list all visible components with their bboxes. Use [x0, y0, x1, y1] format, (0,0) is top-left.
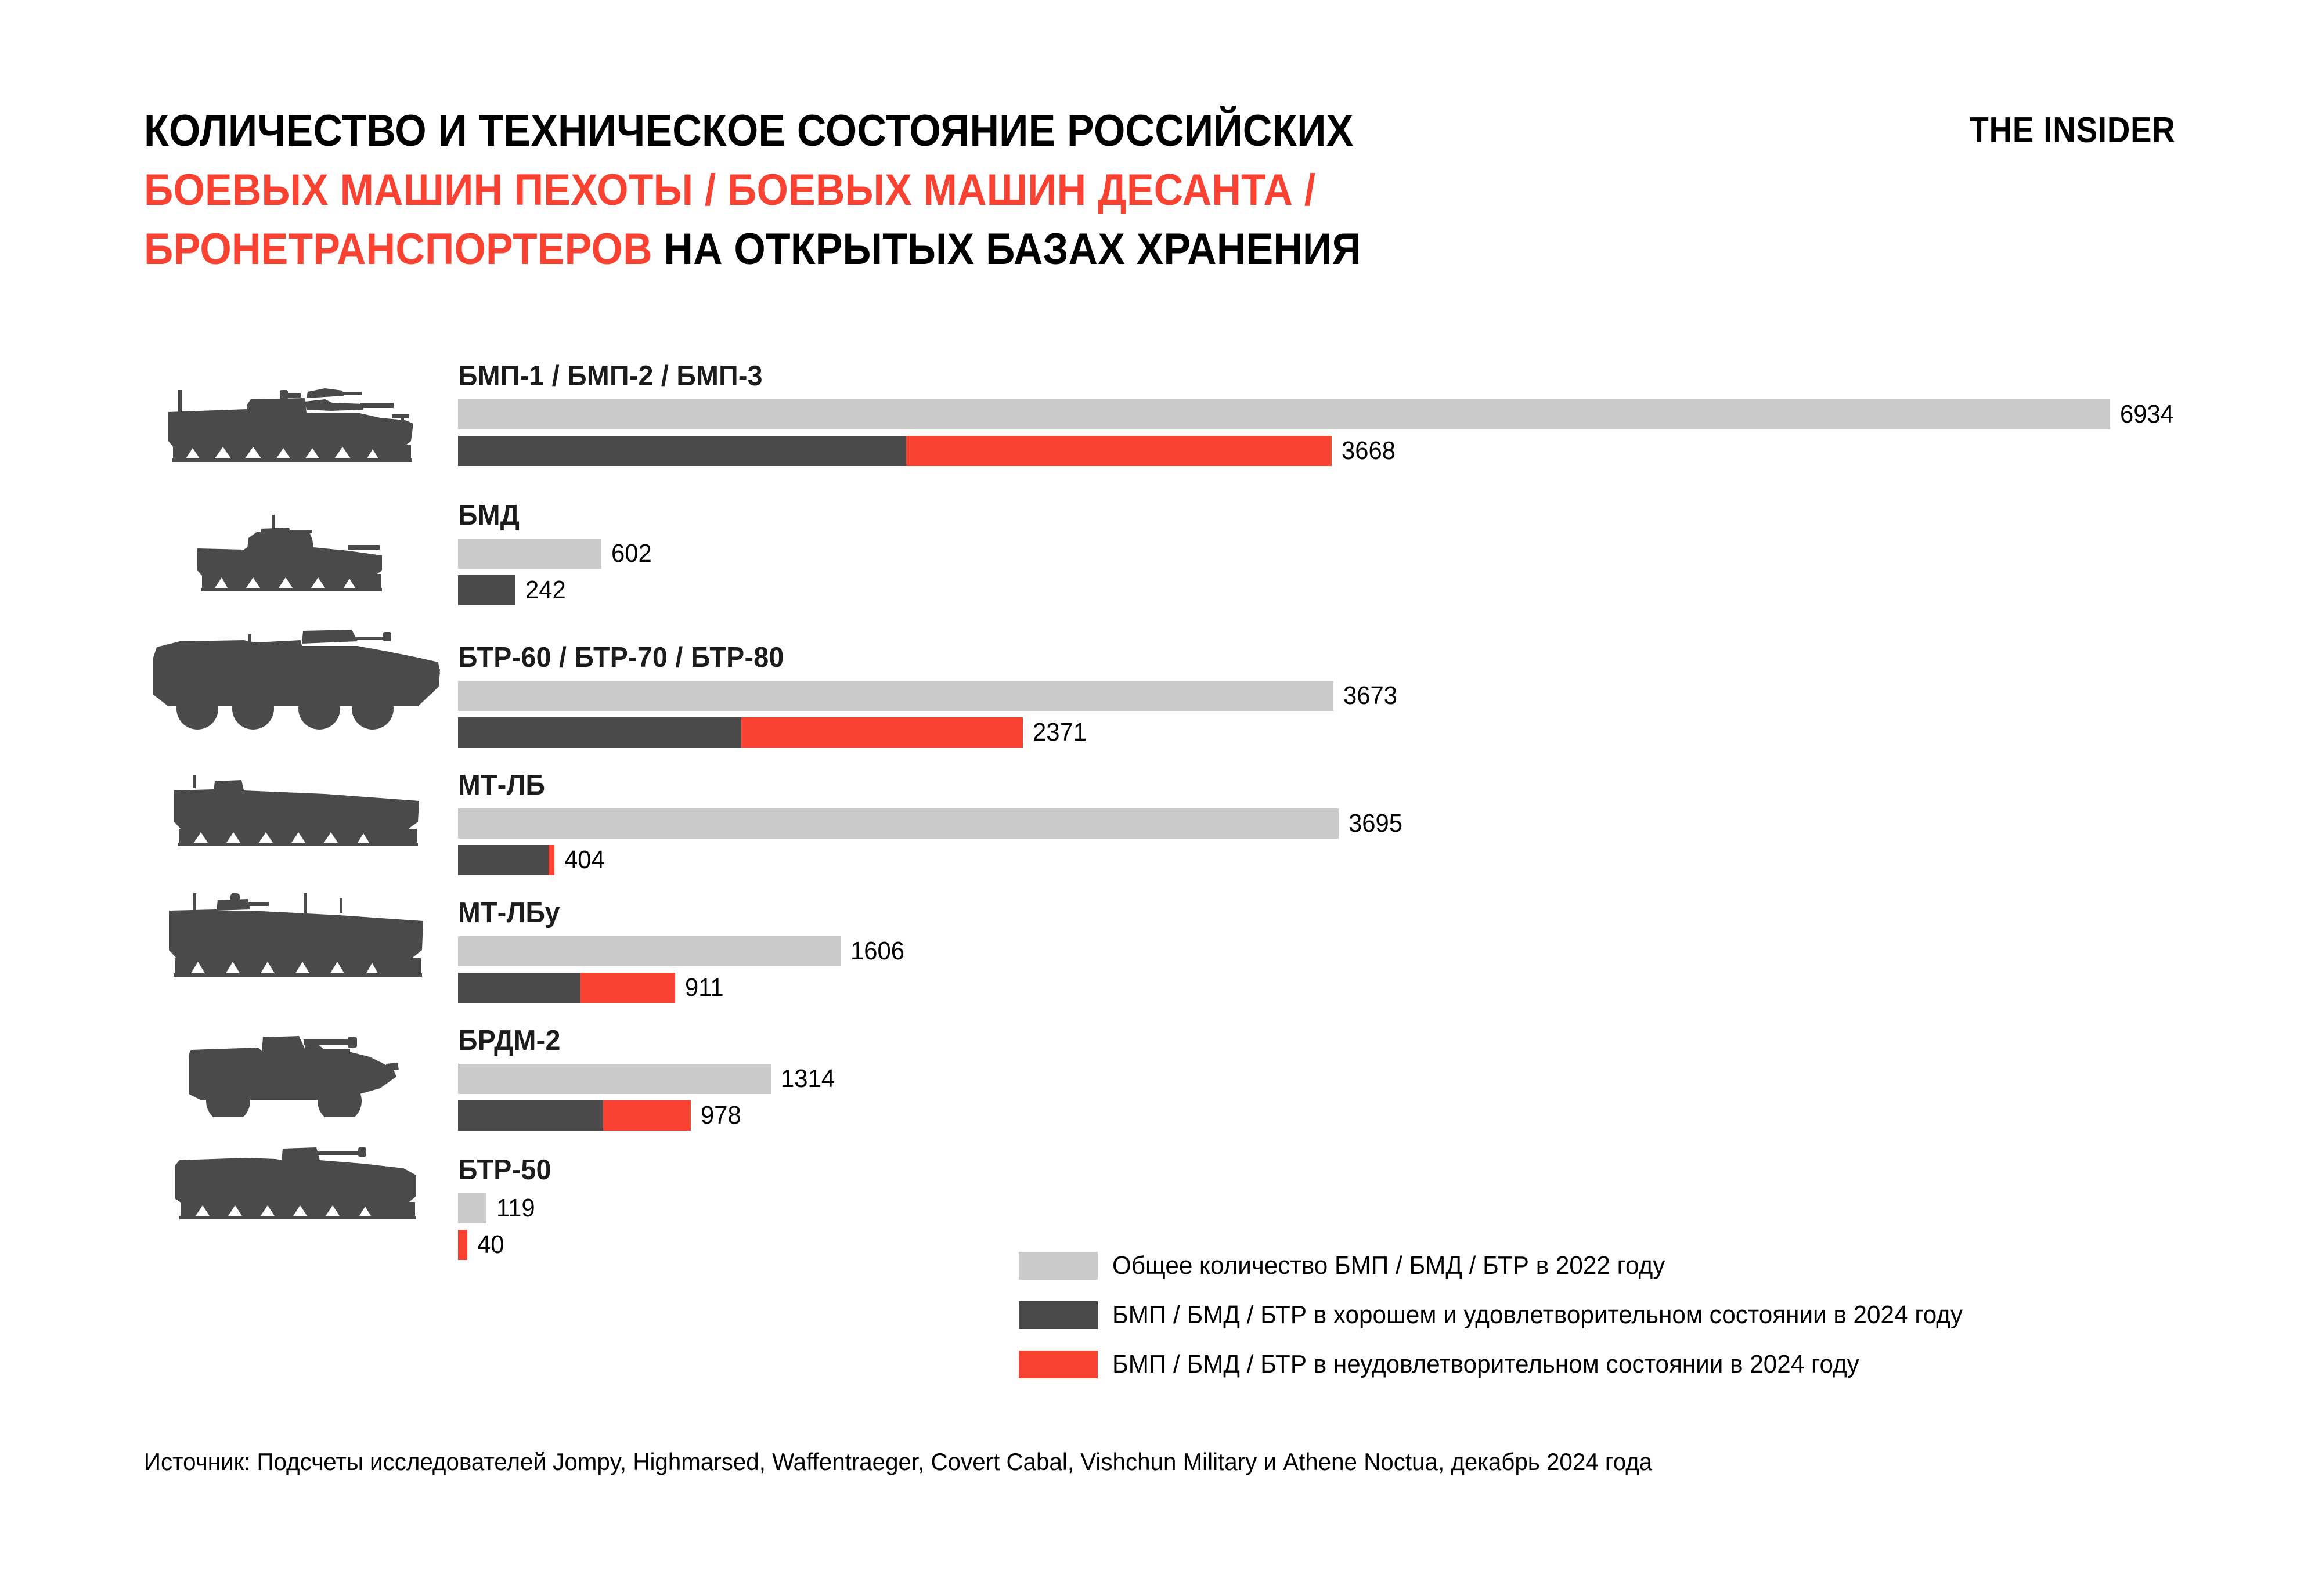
bar-value-2024: 2371: [1033, 717, 1087, 748]
bar-value-total: 6934: [2120, 399, 2174, 429]
legend-label: БМП / БМД / БТР в неудовлетворительном с…: [1112, 1350, 1859, 1379]
condition-bar-line: 242: [458, 575, 2258, 605]
bar-value-total: 119: [496, 1193, 535, 1223]
title-line-3-accent: БРОНЕТРАНСПОРТЕРОВ: [144, 225, 652, 274]
bar-value-2024: 911: [685, 973, 724, 1003]
legend-item: БМП / БМД / БТР в хорошем и удовлетворит…: [1019, 1297, 1998, 1333]
category-label: БМП-1 / БМП-2 / БМП-3: [458, 360, 2168, 392]
bar-value-total: 602: [611, 539, 652, 569]
bar-segment-good-2024: [458, 717, 741, 748]
bar-segment-bad-2024: [906, 436, 1332, 466]
bar-segment-total-2022: [458, 936, 841, 966]
total-bar-line: 3673: [458, 681, 2258, 711]
total-bar-line: 6934: [458, 399, 2258, 429]
chart-row-body: МТ-ЛБу1606911: [458, 897, 2258, 1003]
bar-segment-total-2022: [458, 1064, 771, 1094]
category-label: БТР-60 / БТР-70 / БТР-80: [458, 641, 2168, 674]
bar-segment-bad-2024: [741, 717, 1023, 748]
bar-segment-total-2022: [458, 539, 601, 569]
chart-row-body: БМП-1 / БМП-2 / БМП-369343668: [458, 360, 2258, 466]
bar-segment-good-2024: [458, 845, 549, 875]
bar-value-2024: 40: [477, 1230, 504, 1260]
bar-segment-bad-2024: [603, 1100, 691, 1131]
condition-bar-line: 978: [458, 1100, 2258, 1131]
bar-segment-good-2024: [458, 973, 580, 1003]
mtlbu-tracked-carrier-icon: [145, 885, 447, 992]
category-label: БРДМ-2: [458, 1024, 2168, 1057]
page-title: КОЛИЧЕСТВО И ТЕХНИЧЕСКОЕ СОСТОЯНИЕ РОССИ…: [144, 102, 1914, 279]
header: КОЛИЧЕСТВО И ТЕХНИЧЕСКОЕ СОСТОЯНИЕ РОССИ…: [144, 102, 2176, 279]
category-label: МТ-ЛБу: [458, 897, 2168, 929]
total-bar-line: 1314: [458, 1064, 2258, 1094]
legend-swatch-bad: [1019, 1351, 1098, 1378]
total-bar-line: 602: [458, 539, 2258, 569]
brdm2-scout-car-icon: [145, 1013, 447, 1117]
condition-bar-line: 2371: [458, 717, 2258, 748]
condition-bar-line: 404: [458, 845, 2258, 875]
the-insider-logo: THE INSIDER: [1970, 110, 2176, 151]
bar-segment-total-2022: [458, 808, 1339, 839]
bar-value-2024: 3668: [1342, 436, 1396, 466]
condition-bar-line: 3668: [458, 436, 2258, 466]
category-label: БТР-50: [458, 1154, 2168, 1186]
mtlb-tracked-carrier-icon: [145, 760, 447, 859]
bar-segment-total-2022: [458, 399, 2110, 429]
total-bar-line: 1606: [458, 936, 2258, 966]
chart-legend: Общее количество БМП / БМД / БТР в 2022 …: [1019, 1248, 1998, 1382]
bar-segment-bad-2024: [458, 1230, 467, 1260]
category-label: БМД: [458, 499, 2168, 532]
bmp-tracked-ifv-icon: [145, 360, 447, 470]
total-bar-line: 3695: [458, 808, 2258, 839]
bar-segment-total-2022: [458, 1193, 486, 1223]
source-note: Источник: Подсчеты исследователей Jompy,…: [144, 1448, 1652, 1476]
chart-row-body: БТР-5011940: [458, 1154, 2258, 1260]
bar-segment-good-2024: [458, 1100, 603, 1131]
chart-row-body: МТ-ЛБ3695404: [458, 769, 2258, 875]
title-line-3: БРОНЕТРАНСПОРТЕРОВ НА ОТКРЫТЫХ БАЗАХ ХРА…: [144, 220, 1773, 279]
bar-value-2024: 978: [701, 1100, 741, 1131]
bar-value-total: 1606: [850, 936, 904, 966]
title-line-2: БОЕВЫХ МАШИН ПЕХОТЫ / БОЕВЫХ МАШИН ДЕСАН…: [144, 161, 1773, 220]
legend-swatch-good: [1019, 1301, 1098, 1329]
legend-label: БМП / БМД / БТР в хорошем и удовлетворит…: [1112, 1301, 1963, 1330]
bar-value-2024: 404: [564, 845, 605, 875]
bar-segment-good-2024: [458, 575, 515, 605]
chart-row-body: БМД602242: [458, 499, 2258, 605]
legend-item: БМП / БМД / БТР в неудовлетворительном с…: [1019, 1346, 1998, 1382]
infographic-page: КОЛИЧЕСТВО И ТЕХНИЧЕСКОЕ СОСТОЯНИЕ РОССИ…: [0, 0, 2322, 1596]
legend-swatch-total: [1019, 1252, 1098, 1280]
title-line-3-rest: НА ОТКРЫТЫХ БАЗАХ ХРАНЕНИЯ: [652, 225, 1361, 274]
bar-value-2024: 242: [525, 575, 566, 605]
condition-bar-line: 911: [458, 973, 2258, 1003]
bar-value-total: 3673: [1343, 681, 1397, 711]
bmd-airborne-ifv-icon: [145, 502, 447, 604]
bar-segment-total-2022: [458, 681, 1333, 711]
bar-segment-bad-2024: [580, 973, 675, 1003]
legend-item: Общее количество БМП / БМД / БТР в 2022 …: [1019, 1248, 1998, 1284]
total-bar-line: 119: [458, 1193, 2258, 1223]
legend-label: Общее количество БМП / БМД / БТР в 2022 …: [1112, 1251, 1665, 1280]
btr-wheeled-apc-icon: [145, 624, 447, 740]
title-line-1: КОЛИЧЕСТВО И ТЕХНИЧЕСКОЕ СОСТОЯНИЕ РОССИ…: [144, 102, 1773, 161]
bar-value-total: 3695: [1349, 808, 1402, 839]
bar-segment-good-2024: [458, 436, 906, 466]
category-label: МТ-ЛБ: [458, 769, 2168, 801]
chart-row-body: БТР-60 / БТР-70 / БТР-8036732371: [458, 641, 2258, 748]
bar-value-total: 1314: [781, 1064, 835, 1094]
bar-segment-bad-2024: [549, 845, 554, 875]
chart-row-body: БРДМ-21314978: [458, 1024, 2258, 1131]
btr50-tracked-apc-icon: [145, 1135, 447, 1233]
